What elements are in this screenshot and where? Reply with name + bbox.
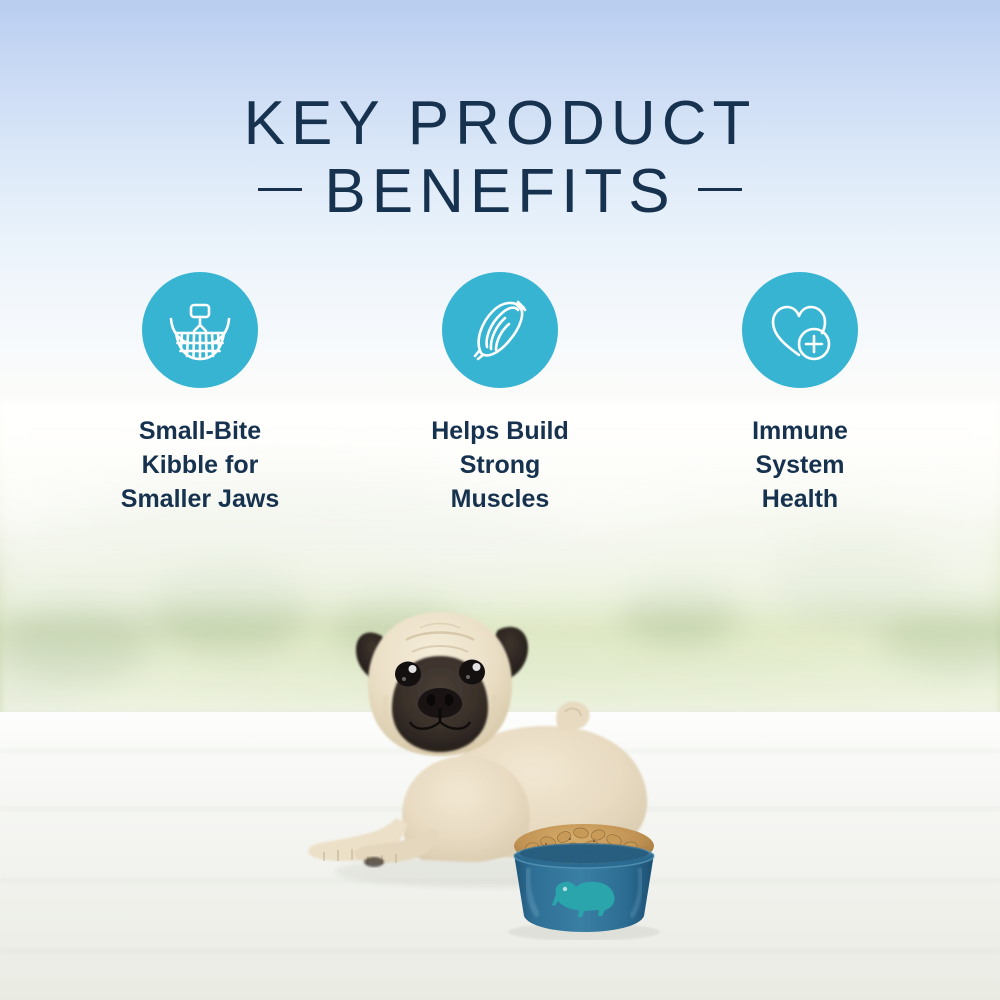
dog-food-bowl: [498, 820, 670, 940]
benefit-label: Helps Build Strong Muscles: [431, 414, 569, 516]
jaw-teeth-kibble-icon: [142, 272, 258, 388]
dash-right-icon: [698, 188, 742, 191]
benefit-item-small-bite-kibble[interactable]: Small-Bite Kibble for Smaller Jaws: [50, 272, 350, 516]
marketing-banner: KEY PRODUCT BENEFITS: [0, 0, 1000, 1000]
benefit-label: Small-Bite Kibble for Smaller Jaws: [121, 414, 279, 516]
benefit-item-strong-muscles[interactable]: Helps Build Strong Muscles: [350, 272, 650, 516]
title-line-2: BENEFITS: [324, 157, 675, 226]
title-line-1: KEY PRODUCT: [0, 90, 1000, 158]
heart-plus-icon: [742, 272, 858, 388]
benefits-row: Small-Bite Kibble for Smaller Jaws: [0, 272, 1000, 516]
benefit-label: Immune System Health: [752, 414, 848, 516]
page-title: KEY PRODUCT BENEFITS: [0, 90, 1000, 226]
title-line-2-row: BENEFITS: [0, 158, 1000, 226]
dash-left-icon: [258, 188, 302, 191]
muscle-fiber-icon: [442, 272, 558, 388]
table-streak: [0, 950, 1000, 952]
benefit-item-immune-system-health[interactable]: Immune System Health: [650, 272, 950, 516]
